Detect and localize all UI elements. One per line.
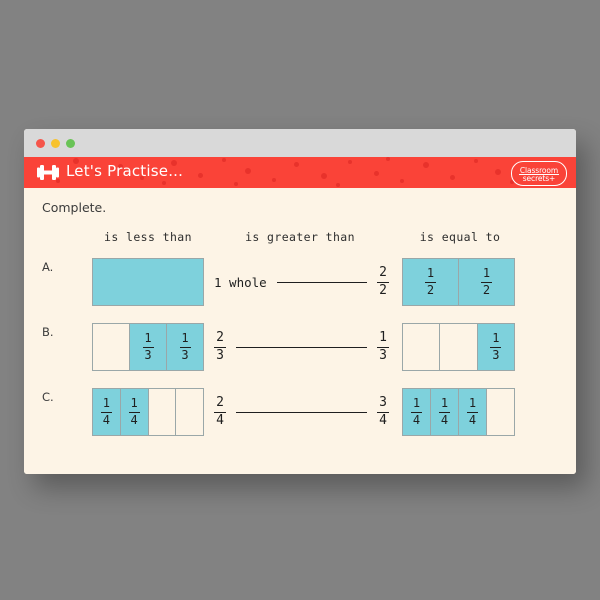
- instruction-text: Complete.: [42, 200, 106, 215]
- fraction-denominator: 4: [129, 414, 140, 427]
- bar-cell-fraction: 14: [129, 397, 140, 427]
- bar-cell-empty[interactable]: [149, 389, 177, 435]
- bar-cell-fraction: 14: [411, 397, 422, 427]
- right-fraction-bar[interactable]: 141414: [402, 388, 515, 436]
- fraction-denominator: 3: [180, 349, 191, 362]
- row-label: C.: [42, 390, 54, 404]
- fraction-denominator: 4: [467, 414, 478, 427]
- fraction-numerator: 1: [481, 267, 492, 280]
- comparison-statement: 2313: [214, 331, 389, 363]
- column-header-is-equal-to: is equal to: [420, 230, 501, 244]
- bar-cell-empty[interactable]: [403, 324, 440, 370]
- fraction-numerator: 1: [411, 397, 422, 410]
- fraction-numerator: 1: [101, 397, 112, 410]
- bar-cell-shaded[interactable]: 13: [478, 324, 514, 370]
- statement-right-fraction: 22: [377, 266, 389, 298]
- fraction-denominator: 2: [377, 284, 389, 298]
- bar-cell-fraction: 13: [180, 332, 191, 362]
- fraction-denominator: 4: [214, 414, 226, 428]
- answer-blank[interactable]: [277, 282, 367, 283]
- bar-cell-shaded[interactable]: 13: [130, 324, 167, 370]
- fraction-denominator: 3: [490, 349, 501, 362]
- fraction-denominator: 4: [439, 414, 450, 427]
- fraction-denominator: 3: [143, 349, 154, 362]
- right-fraction-bar[interactable]: 13: [402, 323, 515, 371]
- fraction-numerator: 1: [425, 267, 436, 280]
- bar-cell-shaded[interactable]: 14: [403, 389, 431, 435]
- fraction-numerator: 1: [439, 397, 450, 410]
- logo-divider: [519, 174, 559, 175]
- minimize-window-button[interactable]: [51, 139, 60, 148]
- column-header-is-less-than: is less than: [104, 230, 192, 244]
- bar-cell-fraction: 13: [490, 332, 501, 362]
- traffic-light-group: [36, 139, 75, 148]
- left-fraction-bar[interactable]: 1313: [92, 323, 204, 371]
- fraction-numerator: 1: [180, 332, 191, 345]
- right-fraction-bar[interactable]: 1212: [402, 258, 515, 306]
- left-fraction-bar[interactable]: 1414: [92, 388, 204, 436]
- lesson-window: Let's Practise... Classroom secrets+ Com…: [24, 129, 576, 474]
- comparison-statement: 2434: [214, 396, 389, 428]
- fraction-denominator: 4: [411, 414, 422, 427]
- bar-cell-shaded[interactable]: 14: [459, 389, 487, 435]
- comparison-statement: 1 whole22: [214, 266, 389, 298]
- fraction-numerator: 2: [214, 396, 226, 410]
- fraction-denominator: 2: [425, 284, 436, 297]
- column-header-is-greater-than: is greater than: [245, 230, 355, 244]
- bar-cell-fraction: 12: [425, 267, 436, 297]
- bar-cell-shaded[interactable]: 14: [431, 389, 459, 435]
- bar-cell-fraction: 14: [439, 397, 450, 427]
- bar-cell-shaded[interactable]: [93, 259, 203, 305]
- window-title-bar: [24, 129, 576, 157]
- fraction-numerator: 2: [377, 266, 389, 280]
- statement-left-fraction: 23: [214, 331, 226, 363]
- bar-cell-fraction: 14: [467, 397, 478, 427]
- statement-left-text: 1 whole: [214, 275, 267, 290]
- bar-cell-fraction: 13: [143, 332, 154, 362]
- answer-blank[interactable]: [236, 347, 367, 348]
- fraction-denominator: 3: [377, 349, 389, 363]
- fraction-denominator: 3: [214, 349, 226, 363]
- bar-cell-empty[interactable]: [176, 389, 203, 435]
- statement-right-fraction: 13: [377, 331, 389, 363]
- fraction-denominator: 2: [481, 284, 492, 297]
- bar-cell-empty[interactable]: [487, 389, 514, 435]
- bar-cell-shaded[interactable]: 14: [93, 389, 121, 435]
- fraction-numerator: 1: [129, 397, 140, 410]
- fraction-numerator: 2: [214, 331, 226, 345]
- maximize-window-button[interactable]: [66, 139, 75, 148]
- left-fraction-bar[interactable]: [92, 258, 204, 306]
- bar-cell-shaded[interactable]: 12: [459, 259, 514, 305]
- bar-cell-shaded[interactable]: 14: [121, 389, 149, 435]
- bar-cell-empty[interactable]: [93, 324, 130, 370]
- bar-cell-shaded[interactable]: 13: [167, 324, 203, 370]
- lesson-banner: Let's Practise... Classroom secrets+: [24, 157, 576, 188]
- logo-line-2: secrets+: [512, 175, 566, 183]
- fraction-numerator: 1: [490, 332, 501, 345]
- bar-cell-fraction: 14: [101, 397, 112, 427]
- fraction-numerator: 3: [377, 396, 389, 410]
- classroom-secrets-logo: Classroom secrets+: [511, 161, 567, 186]
- worksheet-body: Complete. is less than is greater than i…: [24, 188, 576, 474]
- bar-cell-empty[interactable]: [440, 324, 477, 370]
- fraction-denominator: 4: [101, 414, 112, 427]
- close-window-button[interactable]: [36, 139, 45, 148]
- fraction-numerator: 1: [467, 397, 478, 410]
- statement-right-fraction: 34: [377, 396, 389, 428]
- fraction-denominator: 4: [377, 414, 389, 428]
- banner-title: Let's Practise...: [66, 162, 183, 180]
- fraction-numerator: 1: [143, 332, 154, 345]
- statement-left-fraction: 24: [214, 396, 226, 428]
- row-label: B.: [42, 325, 54, 339]
- answer-blank[interactable]: [236, 412, 367, 413]
- dumbbell-icon: [37, 164, 59, 181]
- row-label: A.: [42, 260, 53, 274]
- fraction-numerator: 1: [377, 331, 389, 345]
- bar-cell-shaded[interactable]: 12: [403, 259, 459, 305]
- bar-cell-fraction: 12: [481, 267, 492, 297]
